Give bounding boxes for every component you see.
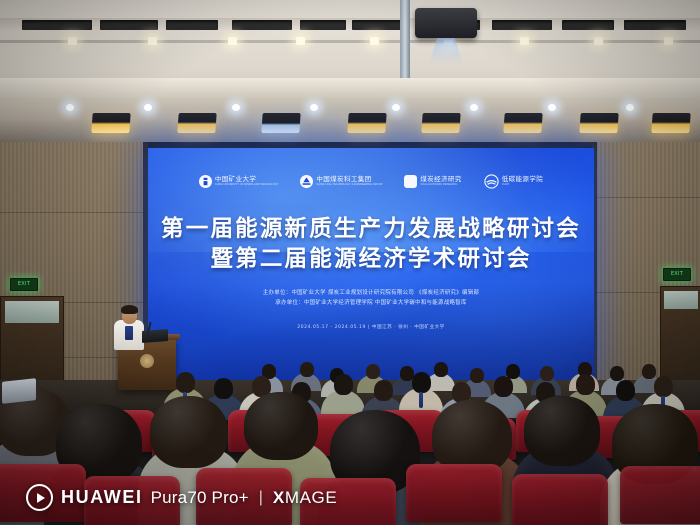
right-door-window: [664, 291, 698, 309]
exit-sign-left-label: EXIT: [11, 279, 37, 290]
beam-spotlight: [392, 104, 400, 111]
sponsor-logo-text: 中国矿业大学CHINA UNIVERSITY OF MINING AND TEC…: [215, 176, 278, 186]
stage-lamp: [651, 113, 690, 133]
stage-lamp: [421, 113, 460, 133]
ceiling-vent: [562, 20, 614, 30]
led-presentation-screen: 中国矿业大学CHINA UNIVERSITY OF MINING AND TEC…: [148, 148, 594, 380]
beam-spotlight: [626, 104, 634, 111]
camera-watermark: HUAWEI Pura70 Pro+ | XMAGE: [26, 484, 337, 511]
watermark-brand: HUAWEI: [61, 487, 143, 508]
sponsor-logo-text: 煤炭经济研究COAL ECONOMIC RESEARCH: [420, 176, 461, 186]
beam-spotlight: [144, 104, 152, 111]
sponsor-logo-name: 低碳能源学院: [502, 176, 543, 183]
beam-spotlight: [470, 104, 478, 111]
ceiling-vent: [100, 20, 158, 30]
sponsor-logo-name: 煤炭经济研究: [420, 176, 461, 183]
cumt-seal-icon: [199, 175, 212, 188]
huawei-play-leaf-icon: [26, 484, 53, 511]
ceiling-spotlight: [68, 37, 77, 45]
presenter-hair: [121, 305, 138, 314]
watermark-model: Pura70 Pro+: [151, 488, 249, 508]
sponsor-logo-name: 中国矿业大学: [215, 176, 278, 183]
audience-member-mid-head: [412, 372, 431, 393]
watermark-separator: |: [259, 489, 263, 507]
sponsor-logo-subtitle: CHINA COAL TECHNOLOGY & ENGINEERING GROU…: [316, 184, 382, 187]
presenter-lanyard: [125, 326, 133, 340]
ceiling-lip: [0, 78, 700, 98]
ceiling-spotlight: [520, 37, 529, 45]
audience-member-near-head: [432, 400, 512, 474]
audience-lanyard: [419, 392, 423, 408]
audience-member-near-head: [150, 396, 228, 468]
ceiling-vent: [232, 20, 292, 30]
ceiling-spotlight: [228, 37, 237, 45]
ceiling-spotlight: [148, 37, 157, 45]
audience-member-mid-head: [616, 380, 635, 401]
ceiling-spotlight: [664, 37, 673, 45]
beam-spotlight: [310, 104, 318, 111]
watermark-xmage: XMAGE: [273, 488, 337, 508]
ceiling-vent: [624, 20, 686, 30]
stage-lamp: [503, 113, 542, 133]
ceiling-spotlight: [296, 37, 305, 45]
watermark-xmage-rest: MAGE: [285, 488, 337, 507]
sponsor-logo-subtitle: CHINA UNIVERSITY OF MINING AND TECHNOLOG…: [215, 184, 278, 187]
sponsor-logo-name: 中国煤炭科工集团: [316, 176, 382, 183]
event-title-line-2: 暨第二届能源经济学术研讨会: [148, 244, 594, 274]
audience-laptop: [2, 378, 36, 404]
cumt-wave-icon: [484, 174, 499, 189]
exit-sign-right: EXIT: [663, 268, 691, 281]
organizer-line-2: 承办单位：中国矿业大学经济管理学院 中国矿业大学碳中和与能源战略智库: [148, 298, 594, 308]
audience-member-near-head: [244, 392, 318, 460]
beam-spotlight: [66, 104, 74, 111]
beam-spotlight: [548, 104, 556, 111]
event-date-venue: 2024.05.17 - 2024.05.19 | 中国江苏 · 徐州 · 中国…: [148, 324, 594, 330]
audience-member-far-head: [366, 364, 380, 379]
ceiling: [0, 0, 700, 98]
ceiling-vent: [300, 20, 346, 30]
theater-seat-front: [406, 464, 502, 522]
event-title-line-1: 第一届能源新质生产力发展战略研讨会: [148, 214, 594, 244]
audience-member-far-head: [470, 368, 484, 383]
sponsor-logo-2: 中国煤炭科工集团CHINA COAL TECHNOLOGY & ENGINEER…: [300, 175, 382, 188]
svg-text:CEK: CEK: [406, 180, 417, 186]
ceiling-spotlight: [594, 37, 603, 45]
ceiling-vent: [492, 20, 552, 30]
exit-sign-right-label: EXIT: [664, 269, 690, 280]
audience-member-mid-head: [214, 378, 233, 399]
audience-member-mid-head: [494, 376, 513, 397]
watermark-xmage-x: X: [273, 488, 285, 507]
stage-lamp: [177, 113, 216, 133]
stage-lamp: [347, 113, 386, 133]
audience-member-mid-head: [334, 374, 353, 395]
sponsor-logo-3: CEK煤炭经济研究COAL ECONOMIC RESEARCH: [404, 175, 461, 188]
theater-seat-front: [620, 466, 700, 524]
laptop-on-podium: [142, 329, 168, 343]
audience-member-mid-head: [576, 374, 595, 395]
event-title-block: 第一届能源新质生产力发展战略研讨会 暨第二届能源经济学术研讨会: [148, 214, 594, 274]
sponsor-logo-4: 低碳能源学院CUMT: [484, 174, 543, 189]
audience-member-far-head: [540, 366, 554, 381]
organizer-block: 主办单位：中国矿业大学 煤炭工业规划设计研究院有限公司 《煤炭经济研究》编辑部 …: [148, 288, 594, 308]
audience-member-mid-head: [654, 376, 673, 397]
audience-member-far-head: [434, 362, 448, 377]
stage-lamp: [91, 113, 130, 133]
ceiling-spotlight: [370, 37, 379, 45]
audience-member-near-head: [524, 396, 600, 466]
ceiling-vent: [166, 20, 218, 30]
sponsor-logo-text: 中国煤炭科工集团CHINA COAL TECHNOLOGY & ENGINEER…: [316, 176, 382, 186]
ccteg-icon: [300, 175, 313, 188]
organizer-line-1: 主办单位：中国矿业大学 煤炭工业规划设计研究院有限公司 《煤炭经济研究》编辑部: [148, 288, 594, 298]
exit-sign-left: EXIT: [10, 278, 38, 291]
beam-spotlight: [232, 104, 240, 111]
audience-member-far-head: [642, 364, 656, 379]
sponsor-logo-subtitle: CUMT: [502, 184, 543, 187]
conference-hall-photo: EXIT EXIT 中国矿业大学CHINA UNIVERSITY OF MINI…: [0, 0, 700, 525]
ceiling-vent: [22, 20, 92, 30]
projector-mount-pole: [400, 0, 410, 78]
audience-member-mid-head: [176, 372, 195, 393]
ceiling-projector: [415, 8, 477, 38]
sponsor-logo-1: 中国矿业大学CHINA UNIVERSITY OF MINING AND TEC…: [199, 175, 278, 188]
audience-member-far-head: [610, 366, 624, 381]
left-door-window: [5, 301, 59, 323]
stage-lamp: [261, 113, 300, 133]
sponsor-logo-row: 中国矿业大学CHINA UNIVERSITY OF MINING AND TEC…: [148, 174, 594, 189]
sponsor-logo-subtitle: COAL ECONOMIC RESEARCH: [420, 184, 461, 187]
audience-member-mid-head: [374, 380, 393, 401]
theater-seat-front: [512, 474, 608, 525]
stage-lamp: [579, 113, 618, 133]
audience-member-far-head: [300, 362, 314, 377]
sponsor-logo-text: 低碳能源学院CUMT: [502, 176, 543, 186]
cek-badge-icon: CEK: [404, 175, 417, 188]
